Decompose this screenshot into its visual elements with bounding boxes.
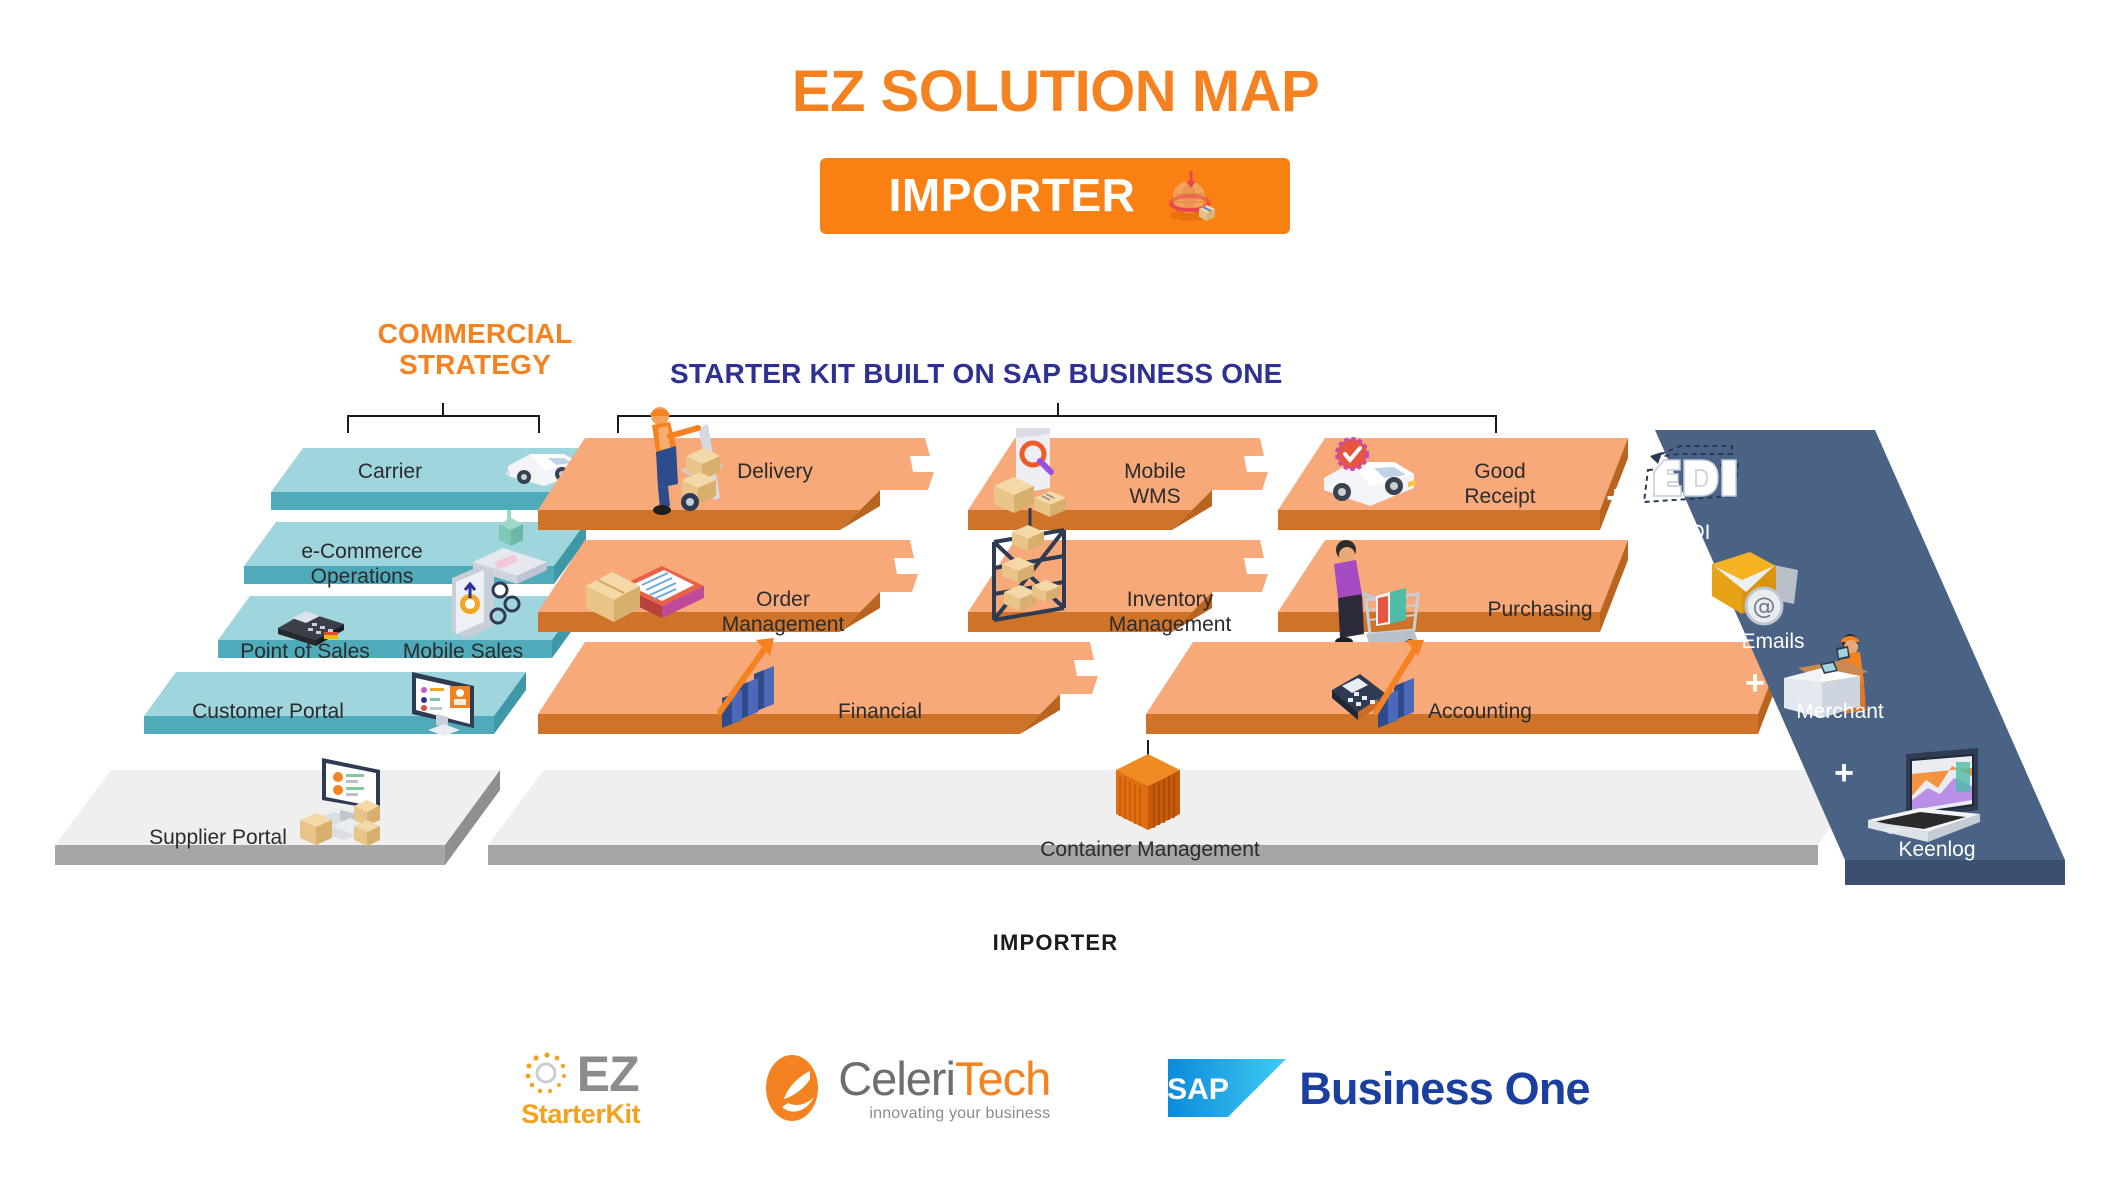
solution-map-canvas: EZ SOLUTION MAP IMPORTER [0, 0, 2111, 1187]
celeritech-tagline: innovating your business [838, 1106, 1050, 1122]
starterkit-slab-financial [530, 642, 1130, 742]
ez-dots-icon [523, 1050, 571, 1098]
white-van-check-icon [1308, 438, 1428, 514]
shipping-container-icon [1098, 740, 1198, 850]
svg-text:@: @ [1753, 594, 1776, 620]
supplier-monitor-boxes-icon [288, 752, 406, 857]
supplier-platform [45, 770, 515, 900]
logo-ez-starterkit: EZ StarterKit [521, 1049, 640, 1128]
section-title-commercial-strategy: COMMERCIAL STRATEGY [345, 318, 605, 381]
celeritech-part2: Tech [955, 1052, 1050, 1105]
warehouse-rack-icon [978, 508, 1084, 638]
logo-celeritech: CeleriTech innovating your business [758, 1051, 1050, 1125]
box-clipboard-icon [586, 552, 710, 638]
ez-logo-text: EZ [577, 1049, 639, 1099]
logo-sap-business-one: SAP Business One [1168, 1059, 1590, 1117]
ez-logo-subtext: StarterKit [521, 1101, 640, 1128]
celeritech-part1: Celeri [838, 1052, 955, 1105]
edi-logo-icon [1638, 440, 1750, 528]
starterkit-slab-delivery [530, 438, 950, 538]
merchant-counter-icon [1772, 630, 1878, 724]
sap-logo-icon: SAP [1168, 1059, 1286, 1117]
celeritech-leaf-icon [758, 1051, 832, 1125]
section-title-starter-kit: STARTER KIT BUILT ON SAP BUSINESS ONE [670, 358, 1460, 389]
page-title: EZ SOLUTION MAP [0, 58, 2111, 125]
partner-logos: EZ StarterKit CeleriTech innovating your… [0, 1028, 2111, 1148]
bar-chart-arrow-icon [712, 638, 792, 734]
importer-badge: IMPORTER [820, 158, 1290, 234]
desktop-monitor-icon [390, 662, 490, 754]
worker-handtruck-icon [636, 406, 736, 518]
laptop-analytics-icon [1860, 748, 1986, 852]
svg-text:SAP: SAP [1168, 1073, 1229, 1106]
calculator-chart-icon [1326, 640, 1436, 736]
sap-logo-text: Business One [1299, 1066, 1590, 1111]
globe-package-icon [1157, 167, 1221, 229]
base-label-importer: IMPORTER [0, 930, 2111, 956]
mobile-phone-icon [440, 560, 532, 646]
importer-badge-label: IMPORTER [889, 172, 1136, 221]
pos-terminal-icon [272, 598, 350, 650]
email-envelope-at-icon: @ [1706, 548, 1808, 636]
